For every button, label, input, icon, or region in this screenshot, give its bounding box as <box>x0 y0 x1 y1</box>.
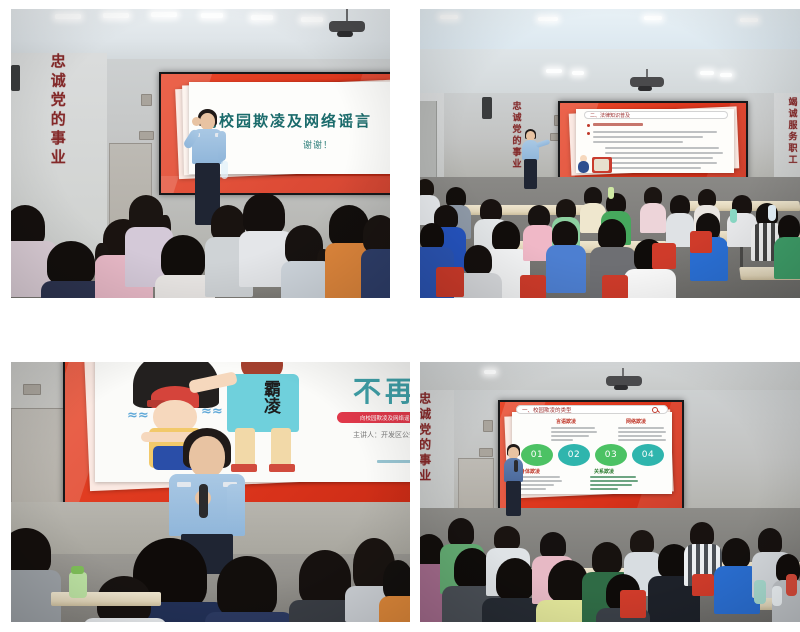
slide-header-bar-br: 一、校园欺凌的类型 <box>516 405 668 414</box>
student-hair <box>448 518 474 546</box>
slide-footer-line <box>377 460 410 463</box>
student-hair <box>446 187 466 207</box>
wall-calligraphy-tr-right: 竭诚服务职工 <box>786 97 795 166</box>
student-torso <box>774 237 800 279</box>
classroom-stool <box>436 267 464 297</box>
slide-bullet-line <box>593 123 643 126</box>
slide-body-line <box>605 147 719 149</box>
category-label-04: 网络欺凌 <box>626 418 646 425</box>
student-hair <box>540 532 566 558</box>
classroom-stool <box>520 275 546 298</box>
officer-head <box>189 436 225 478</box>
water-bottle <box>772 586 782 606</box>
slide-banner-bl: 向校园欺凌及网络谣言说不 <box>337 412 410 423</box>
wall-switch-icon <box>483 420 493 432</box>
category-label-03: 关系欺凌 <box>594 468 614 475</box>
student-hair <box>592 542 622 574</box>
student-torso <box>205 612 293 622</box>
ceiling-light-icon <box>484 370 496 374</box>
ceiling-light-icon <box>201 13 223 18</box>
ceiling-light-icon <box>103 13 129 18</box>
category-desc-line <box>618 435 662 437</box>
student-hair <box>420 223 444 249</box>
category-label-02: 言语欺凌 <box>556 418 576 425</box>
slide-subtitle-tl: 谢谢！ <box>303 138 333 151</box>
ceiling-light-icon <box>151 12 177 17</box>
classroom-stool <box>690 231 712 253</box>
student-torso <box>624 269 676 298</box>
category-desc-line <box>590 488 618 490</box>
bully-shoe <box>269 464 295 472</box>
ceiling-light-icon <box>740 18 758 22</box>
classroom-stool <box>620 590 646 618</box>
category-circle-02: 02 <box>558 444 590 466</box>
classroom-scene-tr: 忠诚党的事业 竭诚服务职工 二、法律知识普及 <box>420 9 800 298</box>
water-bottle <box>608 187 614 199</box>
wall-speaker-icon <box>482 97 492 119</box>
category-desc-line <box>618 439 666 441</box>
category-desc-line <box>551 427 595 429</box>
slide-presenter-bl: 主讲人：开发区公安分局 <box>353 430 410 440</box>
led-screen-tr: 二、法律知识普及 <box>558 101 748 183</box>
classroom-scene-tl: 忠诚党的事业 向校园欺凌及网络谣言 谢谢！ <box>11 9 390 298</box>
officer-head <box>200 113 215 130</box>
water-bottle <box>221 161 228 179</box>
student-hair <box>758 528 782 554</box>
slide-illustration-accent <box>594 159 609 171</box>
water-bottle <box>754 580 766 604</box>
student-hair <box>383 560 410 600</box>
presenter-officer-tr <box>520 129 542 189</box>
student-hair <box>161 235 205 279</box>
student-hair <box>598 219 626 249</box>
officer-trousers <box>524 159 537 189</box>
category-desc-line <box>590 476 636 478</box>
slide-body-line <box>593 141 683 143</box>
wall-calligraphy-tl: 忠诚党的事业 <box>49 53 65 168</box>
slide-header-text-br: 一、校园欺凌的类型 <box>516 406 572 414</box>
student-hair <box>722 538 750 568</box>
officer-trousers <box>506 481 521 516</box>
category-circle-03: 03 <box>595 444 627 466</box>
student-hair <box>243 193 285 235</box>
student-hair <box>480 199 502 221</box>
category-desc-line <box>618 431 666 433</box>
classroom-stool <box>692 574 714 596</box>
door-tr <box>420 101 437 181</box>
ceiling-light-icon <box>572 71 584 75</box>
student-torso <box>83 618 167 622</box>
student-hair <box>670 195 690 215</box>
classroom-scene-br: 忠诚党的事业 一、校园欺凌的类型 言语欺凌 <box>420 362 800 622</box>
category-desc-line <box>551 439 573 441</box>
wall-speaker-icon <box>11 65 20 91</box>
projector-lens-icon <box>337 31 353 37</box>
student-hair <box>690 522 714 546</box>
category-desc-line <box>590 484 632 486</box>
projector-lens-icon <box>638 86 652 91</box>
slide-header-text-tr: 二、法律知识普及 <box>584 112 630 119</box>
wall-outlet-icon <box>479 448 493 457</box>
ceiling-light-icon <box>55 14 81 19</box>
student-hair <box>778 215 800 239</box>
ceiling-light-icon <box>440 15 458 19</box>
photo-top-left: 忠诚党的事业 向校园欺凌及网络谣言 谢谢！ <box>11 9 390 298</box>
slide-body-line <box>605 157 713 159</box>
bully-tshirt-text: 霸凌 <box>261 380 278 414</box>
student-hair <box>454 548 490 588</box>
category-desc-line <box>618 427 664 429</box>
photo-bottom-right: 忠诚党的事业 一、校园欺凌的类型 言语欺凌 <box>420 362 800 622</box>
student-hair <box>129 195 163 230</box>
slide-body-line <box>605 152 723 154</box>
microphone-icon <box>199 484 208 518</box>
water-bottle <box>730 209 737 223</box>
slide-header-bar-tr: 二、法律知识普及 <box>584 111 728 119</box>
student-hair <box>217 556 277 618</box>
ceiling-tr <box>420 49 800 99</box>
category-desc-line <box>590 480 638 482</box>
skylight-panel <box>420 9 800 53</box>
student-hair <box>552 221 578 247</box>
student-hair <box>528 205 550 227</box>
presenter-officer-br <box>502 444 526 516</box>
sweat-drops-icon: ≈≈ <box>201 404 223 419</box>
student-torso <box>379 596 410 622</box>
classroom-desk <box>51 592 161 606</box>
ceiling-light-icon <box>644 16 662 20</box>
slide-illustration-figure-body <box>578 161 589 173</box>
student-hair <box>47 241 95 285</box>
ceiling-light-icon <box>251 15 273 20</box>
slide-body-line <box>593 131 717 133</box>
ceiling-light-icon <box>546 69 562 73</box>
category-desc-line <box>551 435 589 437</box>
classroom-stool <box>652 243 676 269</box>
water-bottle <box>69 572 87 598</box>
wall-calligraphy-br: 忠诚党的事业 <box>420 392 431 484</box>
student-hair <box>363 215 390 253</box>
ceiling-light-icon <box>700 71 714 75</box>
student-hair <box>464 245 492 275</box>
water-bottle-cap <box>71 566 84 574</box>
student-hair <box>494 526 520 550</box>
wall-calligraphy-tr-left: 忠诚党的事业 <box>510 101 519 170</box>
bullet-icon <box>587 132 590 135</box>
slide-title-bl: 不再 <box>353 370 410 410</box>
water-bottle <box>768 205 776 221</box>
officer-arm-right <box>218 131 226 161</box>
officer-saluting-hand <box>192 117 201 126</box>
shoulder-badge-icon <box>177 482 191 487</box>
photo-bottom-left: ≈≈ ≈≈ 霸凌 不再 向校园欺凌及网络谣言说不 主讲人：开发区公安分局 <box>11 362 410 622</box>
student-torso <box>640 203 666 233</box>
sweat-drops-icon: ≈≈ <box>127 408 149 423</box>
wall-outlet-icon <box>139 131 154 140</box>
category-circle-04: 04 <box>632 444 664 466</box>
wall-outlet-icon <box>23 384 41 395</box>
photo-collage: 忠诚党的事业 向校园欺凌及网络谣言 谢谢！ <box>0 0 800 632</box>
photo-top-right: 忠诚党的事业 竭诚服务职工 二、法律知识普及 <box>420 9 800 298</box>
microphone-icon <box>514 460 518 472</box>
classroom-scene-bl: ≈≈ ≈≈ 霸凌 不再 向校园欺凌及网络谣言说不 主讲人：开发区公安分局 <box>11 362 410 622</box>
ceiling-light-icon <box>720 73 732 77</box>
category-desc-line <box>551 431 597 433</box>
officer-arm-right <box>227 484 245 534</box>
water-bottle <box>786 574 797 596</box>
student-hair <box>556 199 576 219</box>
student-torso <box>361 249 390 298</box>
student-hair <box>630 530 654 554</box>
student-hair <box>299 550 351 606</box>
slide-body-line <box>593 136 703 138</box>
student-hair <box>492 221 520 251</box>
student-hair <box>496 558 534 600</box>
slide-body-line <box>605 162 717 164</box>
slide-body-line <box>605 167 701 169</box>
classroom-stool <box>602 275 628 298</box>
wall-switch-icon <box>141 94 152 106</box>
student-torso <box>546 245 586 293</box>
ceiling-light-icon <box>538 17 558 21</box>
ceiling-light-icon <box>301 17 323 22</box>
bullet-icon <box>587 124 590 127</box>
